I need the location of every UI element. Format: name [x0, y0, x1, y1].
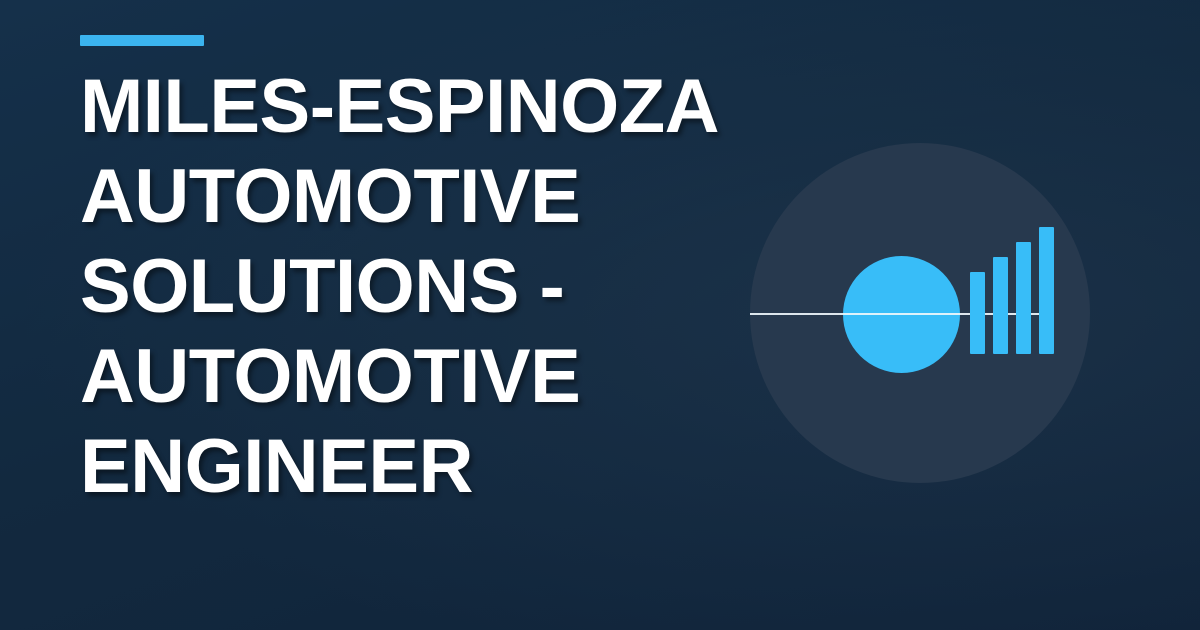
- logo-bar-2-icon: [993, 257, 1008, 354]
- accent-bar: [80, 35, 204, 46]
- social-card: Miles-Espinoza Automotive Solutions - Au…: [0, 0, 1200, 630]
- logo-bar-4-icon: [1039, 227, 1054, 354]
- page-title: Miles-Espinoza Automotive Solutions - Au…: [80, 62, 780, 512]
- audio-waveform-logo: [750, 143, 1090, 483]
- logo-bar-1-icon: [970, 272, 985, 354]
- logo-bar-3-icon: [1016, 242, 1031, 354]
